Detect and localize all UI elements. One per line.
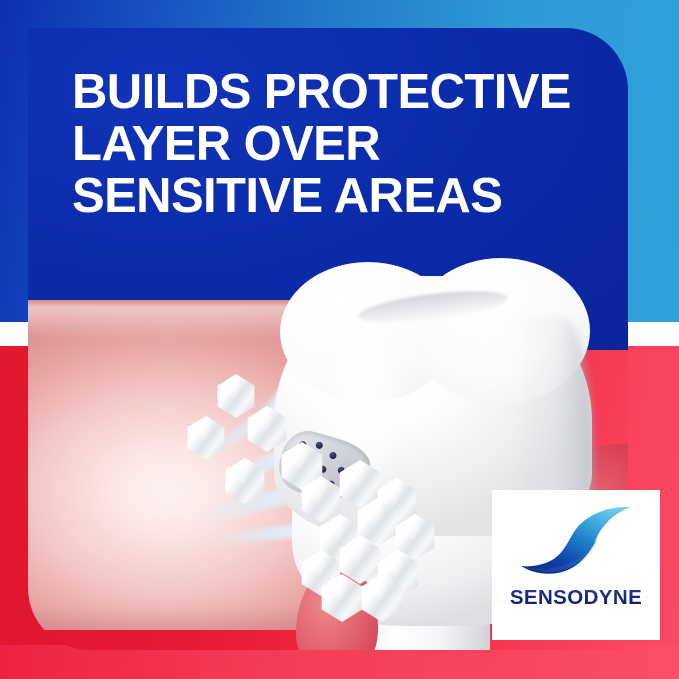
headline-line-1: BUILDS PROTECTIVE — [72, 66, 617, 118]
page-title: BUILDS PROTECTIVE LAYER OVER SENSITIVE A… — [72, 66, 617, 222]
sensodyne-ad-canvas: BUILDS PROTECTIVE LAYER OVER SENSITIVE A… — [0, 0, 679, 679]
sensodyne-s-swoosh-icon — [518, 500, 638, 584]
brand-logo-card: SENSODYNE — [492, 490, 660, 640]
dentine-tubule — [315, 441, 324, 450]
brand-wordmark: SENSODYNE — [492, 586, 660, 610]
background-band-red-bright — [0, 645, 679, 679]
headline-line-2: LAYER OVER — [72, 118, 617, 170]
dentine-tubule — [329, 451, 338, 460]
headline-line-3: SENSITIVE AREAS — [72, 170, 617, 222]
